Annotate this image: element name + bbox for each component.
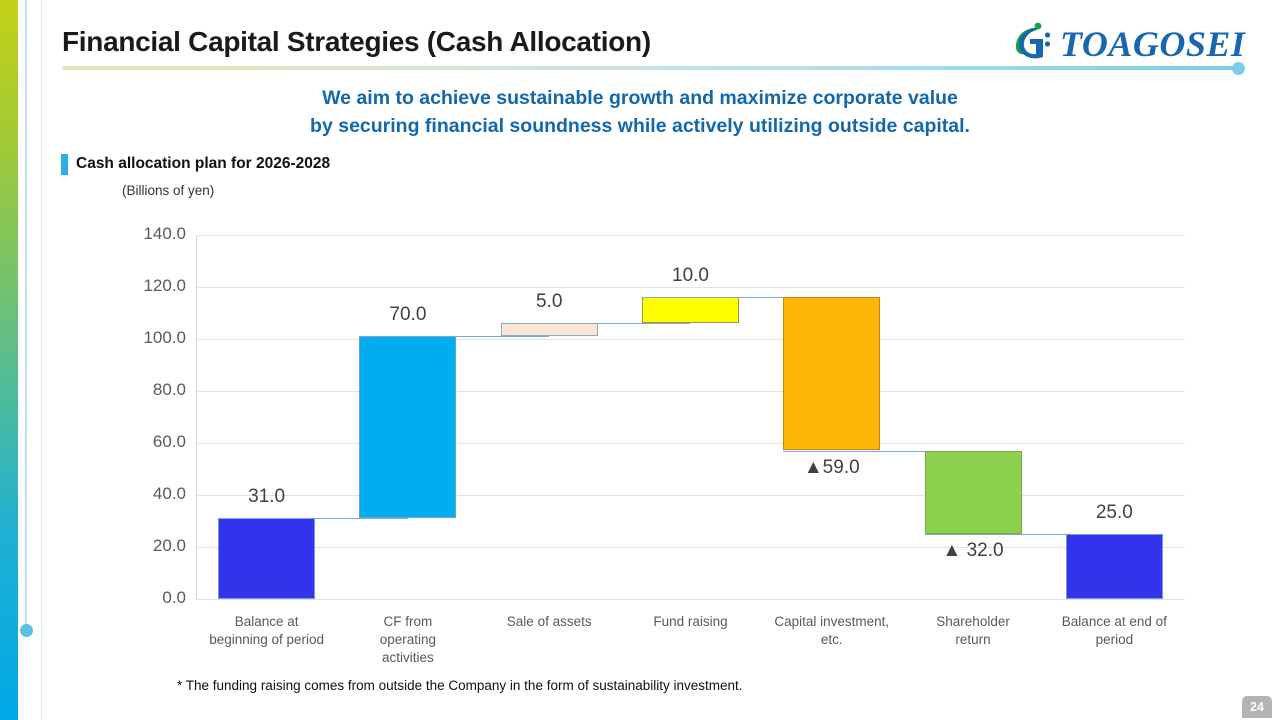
x-axis-category-label: Fund raising <box>620 613 761 631</box>
bar-value-label: 5.0 <box>459 291 639 313</box>
chart-footnote: * The funding raising comes from outside… <box>177 678 743 693</box>
toagosei-g-mark-icon <box>1012 22 1054 67</box>
subtitle-line-1: We aim to achieve sustainable growth and… <box>0 84 1280 112</box>
x-axis-label-line: Sale of assets <box>479 613 620 631</box>
x-axis-category-label: Sale of assets <box>479 613 620 631</box>
gridline <box>196 495 1185 496</box>
y-axis-tick-label: 0.0 <box>114 588 186 608</box>
y-axis-tick-label: 100.0 <box>114 328 186 348</box>
bar-segment[interactable] <box>218 518 315 599</box>
waterfall-connector <box>359 336 549 337</box>
x-axis-label-line: Shareholder <box>902 613 1043 631</box>
page-number-badge: 24 <box>1242 696 1272 718</box>
bar-value-label: ▲ 32.0 <box>883 540 1063 562</box>
bar-segment[interactable] <box>1066 534 1163 599</box>
y-axis-tick-label: 20.0 <box>114 536 186 556</box>
bar-value-label: 70.0 <box>318 304 498 326</box>
y-axis-tick-label: 120.0 <box>114 276 186 296</box>
bar-segment[interactable] <box>642 297 739 323</box>
x-axis-category-label: CF fromoperatingactivities <box>337 613 478 667</box>
x-axis-category-label: Capital investment,etc. <box>761 613 902 649</box>
x-axis-label-line: Capital investment, <box>761 613 902 631</box>
bar-value-label: 10.0 <box>601 265 781 287</box>
subtitle-line-2: by securing financial soundness while ac… <box>0 112 1280 140</box>
rail-end-dot <box>20 624 33 637</box>
y-axis-tick-label: 80.0 <box>114 380 186 400</box>
bar-segment[interactable] <box>783 297 880 450</box>
x-axis-label-line: Balance at end of <box>1044 613 1185 631</box>
gridline <box>196 235 1185 236</box>
x-axis-label-line: operating <box>337 631 478 649</box>
y-axis-tick-label: 60.0 <box>114 432 186 452</box>
x-axis-label-line: CF from <box>337 613 478 631</box>
waterfall-connector <box>783 451 973 452</box>
chart-units-label: (Billions of yen) <box>122 183 214 198</box>
gridline <box>196 443 1185 444</box>
gridline <box>196 287 1185 288</box>
x-axis-label-line: activities <box>337 649 478 667</box>
bar-segment[interactable] <box>359 336 456 518</box>
slide-subtitle: We aim to achieve sustainable growth and… <box>0 84 1280 140</box>
bar-segment[interactable] <box>925 451 1022 534</box>
x-axis-label-line: beginning of period <box>196 631 337 649</box>
title-underline <box>62 66 1240 70</box>
x-axis-category-label: Shareholderreturn <box>902 613 1043 649</box>
logo-wordmark: TOAGOSEI <box>1060 23 1245 65</box>
bar-value-label: 31.0 <box>177 486 357 508</box>
toagosei-logo: TOAGOSEI <box>1012 22 1245 66</box>
y-axis-line <box>196 235 197 599</box>
x-axis-label-line: return <box>902 631 1043 649</box>
y-axis-tick-label: 40.0 <box>114 484 186 504</box>
x-axis-category-label: Balance atbeginning of period <box>196 613 337 649</box>
waterfall-connector <box>642 297 832 298</box>
section-accent-bar <box>61 154 68 175</box>
x-axis-label-line: Balance at <box>196 613 337 631</box>
waterfall-connector <box>218 518 408 519</box>
bar-value-label: ▲59.0 <box>742 457 922 479</box>
gridline <box>196 339 1185 340</box>
gridline <box>196 547 1185 548</box>
waterfall-connector <box>925 534 1114 535</box>
x-axis-label-line: Fund raising <box>620 613 761 631</box>
bar-value-label: 25.0 <box>1024 502 1204 524</box>
page-title: Financial Capital Strategies (Cash Alloc… <box>62 26 651 58</box>
y-axis-tick-label: 140.0 <box>114 224 186 244</box>
bar-segment[interactable] <box>501 323 598 336</box>
x-axis-label-line: etc. <box>761 631 902 649</box>
x-axis-label-line: period <box>1044 631 1185 649</box>
gridline <box>196 599 1185 600</box>
waterfall-connector <box>501 323 690 324</box>
section-title: Cash allocation plan for 2026-2028 <box>76 155 330 173</box>
x-axis-category-label: Balance at end ofperiod <box>1044 613 1185 649</box>
gridline <box>196 391 1185 392</box>
